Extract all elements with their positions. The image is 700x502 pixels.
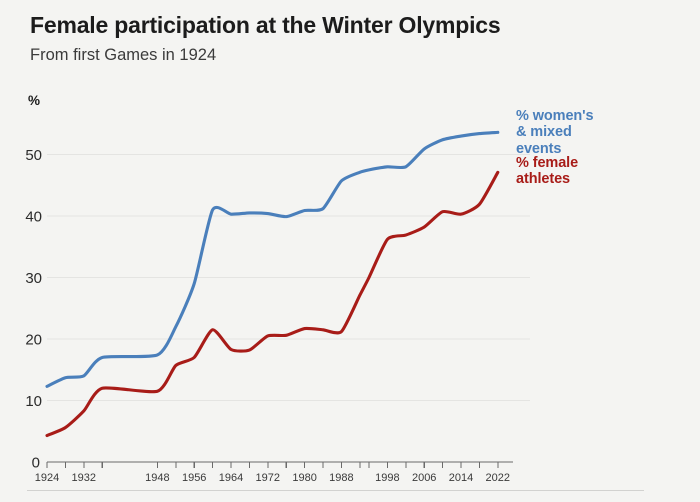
chart-page: Female participation at the Winter Olymp… bbox=[0, 0, 700, 502]
series-line-female-athletes bbox=[47, 172, 498, 435]
x-axis-tick-label: 1998 bbox=[375, 472, 399, 484]
x-axis-tick-label: 1924 bbox=[35, 472, 59, 484]
y-axis-tick-label: 0 bbox=[32, 455, 40, 472]
x-axis-tick-label: 1948 bbox=[145, 472, 169, 484]
y-axis-unit-label: % bbox=[28, 93, 40, 108]
y-axis-tick-label: 10 bbox=[25, 393, 42, 410]
x-axis-tick-labels: 1924193219481956196419721980198819982006… bbox=[35, 472, 510, 484]
y-axis-tick-label: 40 bbox=[25, 209, 42, 226]
series-line-women-events bbox=[47, 132, 498, 386]
gridlines-group bbox=[47, 155, 530, 401]
x-axis-tick-label: 1964 bbox=[219, 472, 243, 484]
x-axis-tick-label: 2006 bbox=[412, 472, 436, 484]
x-axis-tick-label: 1932 bbox=[72, 472, 96, 484]
x-axis-tick-label: 2022 bbox=[486, 472, 510, 484]
legend-label-women-events: % women's & mixed events bbox=[516, 108, 593, 157]
chart-plot-area: 01020304050 % 19241932194819561964197219… bbox=[0, 0, 700, 502]
y-axis-tick-label: 50 bbox=[25, 147, 42, 164]
x-axis-tick-label: 1972 bbox=[256, 472, 280, 484]
legend-label-female-athletes: % female athletes bbox=[516, 155, 578, 188]
y-axis-tick-label: 30 bbox=[25, 270, 42, 287]
x-axis-tick-label: 1956 bbox=[182, 472, 206, 484]
footer-divider bbox=[27, 490, 644, 491]
x-axis-tick-label: 1980 bbox=[292, 472, 316, 484]
y-axis-tick-labels: 01020304050 bbox=[25, 147, 42, 472]
x-axis-tick-label: 1988 bbox=[329, 472, 353, 484]
line-chart-svg: 01020304050 % 19241932194819561964197219… bbox=[0, 0, 700, 502]
x-axis-tick-label: 2014 bbox=[449, 472, 473, 484]
y-axis-tick-label: 20 bbox=[25, 332, 42, 349]
x-axis-group bbox=[47, 462, 513, 468]
